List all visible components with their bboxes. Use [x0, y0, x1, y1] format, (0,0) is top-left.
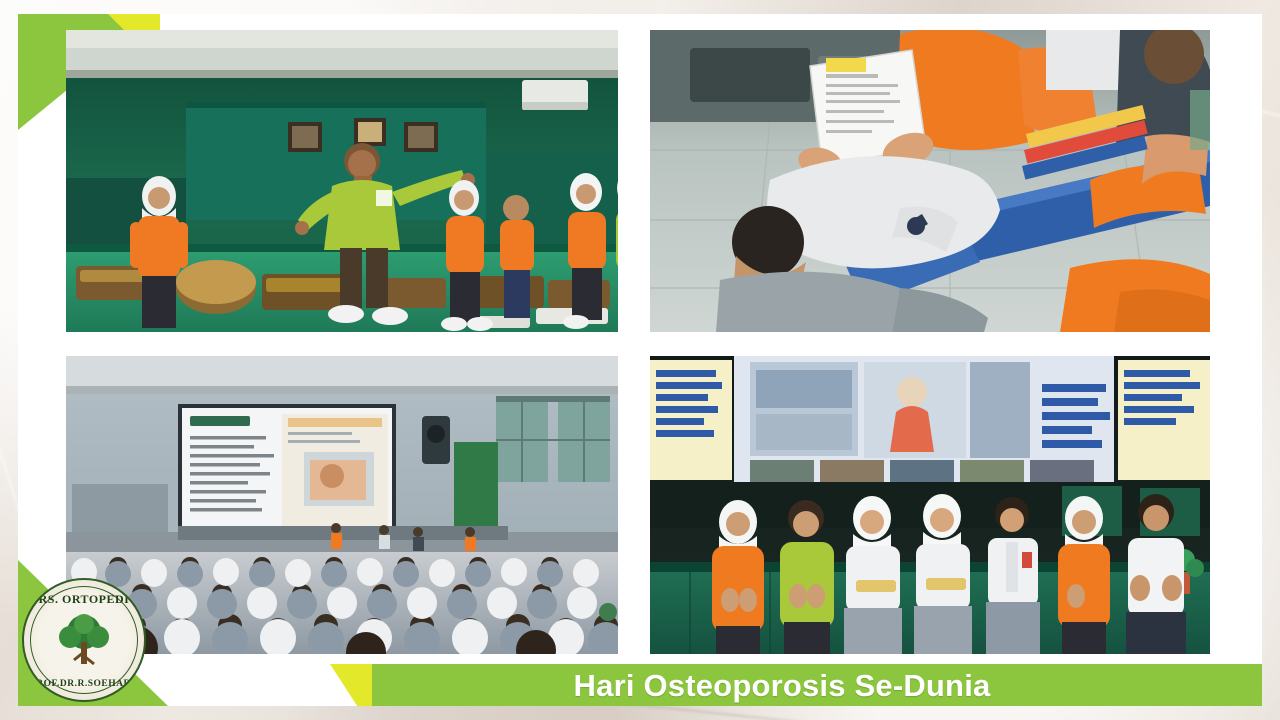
slide-title: Hari Osteoporosis Se-Dunia [372, 664, 1192, 706]
logo-text-bottom: PROF.DR.R.SOEHARSO [24, 679, 144, 690]
photo-top-left [66, 30, 618, 332]
slide-root: Hari Osteoporosis Se-Dunia RS. ORTOPEDI … [0, 0, 1280, 720]
photo-bottom-right [650, 356, 1210, 654]
photo-bottom-left [66, 356, 618, 654]
photo-top-right [650, 30, 1210, 332]
hospital-logo: RS. ORTOPEDI PROF.DR.R.SOEHARSO [22, 578, 146, 702]
tree-icon [53, 612, 115, 668]
logo-text-top: RS. ORTOPEDI [24, 592, 144, 607]
